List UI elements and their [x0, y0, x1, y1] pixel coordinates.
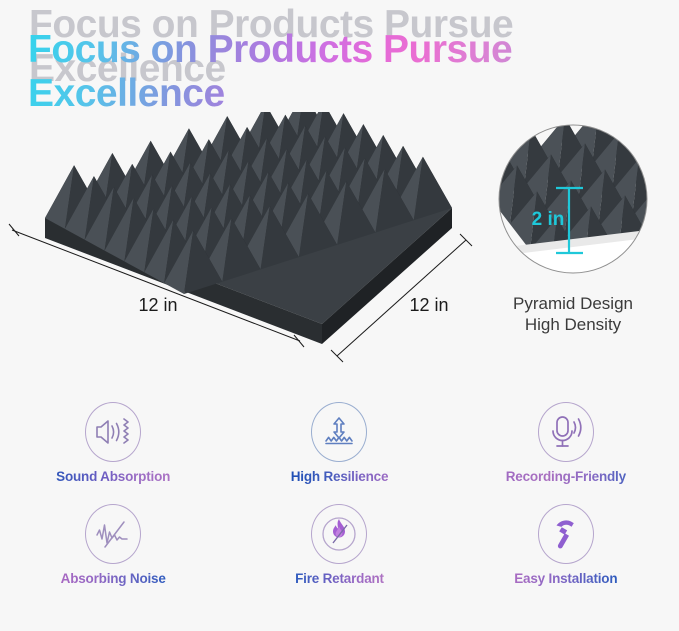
foam-panel-graphic — [45, 112, 452, 344]
up-down-arrow-foam-icon — [320, 415, 358, 449]
feature-easy-installation: Easy Installation — [453, 504, 679, 600]
feature-label: Fire Retardant — [295, 571, 384, 586]
feature-badge — [311, 402, 367, 462]
inset-caption-line1: Pyramid Design — [466, 293, 679, 314]
inset-caption: Pyramid Design High Density — [466, 293, 679, 335]
microphone-sound-wave-icon — [547, 414, 585, 450]
feature-sound-absorption: Sound Absorption — [0, 402, 226, 498]
feature-badge — [311, 504, 367, 564]
page-title: Focus on Products Pursue Excellence — [28, 28, 653, 116]
feature-grid: Sound Absorption High Resilience — [0, 402, 679, 607]
waveform-slash-icon — [93, 518, 133, 550]
feature-high-resilience: High Resilience — [226, 402, 452, 498]
dimension-label-right: 12 in — [409, 295, 448, 315]
feature-label: Sound Absorption — [56, 469, 170, 484]
feature-badge — [85, 402, 141, 462]
feature-badge — [538, 504, 594, 564]
inset-caption-line2: High Density — [466, 314, 679, 335]
pyramid-closeup-inset: 2 in — [470, 112, 679, 276]
flame-prohibited-icon — [317, 512, 361, 556]
feature-label: Recording-Friendly — [506, 469, 626, 484]
product-hero: 12 in 12 in 2 in — [0, 112, 679, 397]
feature-absorbing-noise: Absorbing Noise — [0, 504, 226, 600]
dimension-label-left: 12 in — [138, 295, 177, 315]
thickness-label: 2 in — [532, 209, 565, 230]
feature-label: Easy Installation — [514, 571, 617, 586]
feature-label: High Resilience — [291, 469, 389, 484]
feature-recording-friendly: Recording-Friendly — [453, 402, 679, 498]
feature-badge — [538, 402, 594, 462]
feature-fire-retardant: Fire Retardant — [226, 504, 452, 600]
feature-badge — [85, 504, 141, 564]
feature-label: Absorbing Noise — [61, 571, 166, 586]
hammer-icon — [548, 516, 584, 552]
speaker-sound-wave-foam-icon — [93, 415, 133, 449]
